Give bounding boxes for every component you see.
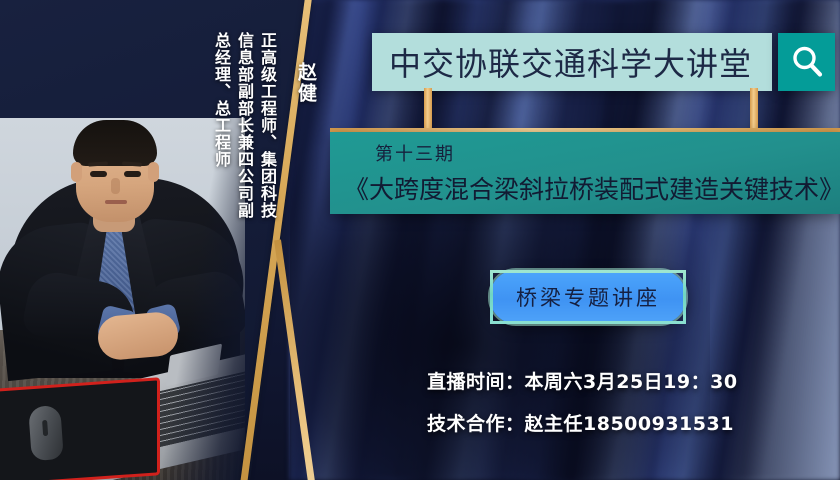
- broadcast-time: 直播时间：本周六3月25日19：30: [427, 367, 738, 394]
- program-title-bar: 中交协联交通科学大讲堂: [372, 33, 772, 91]
- session-banner: 第十三期 《大跨度混合梁斜拉桥装配式建造关键技术》: [330, 132, 840, 214]
- category-badge-label: 桥梁专题讲座: [516, 282, 660, 312]
- contact-info: 技术合作：赵主任18500931531: [427, 409, 734, 436]
- category-badge[interactable]: 桥梁专题讲座: [490, 270, 686, 324]
- gold-connector-left: [424, 88, 432, 133]
- search-button[interactable]: [778, 33, 835, 91]
- speaker-title-line-2: 信息部副部长兼四公司副: [236, 32, 252, 219]
- search-icon: [790, 45, 824, 79]
- speaker-title-line-3: 总经理、总工程师: [213, 32, 229, 168]
- speaker-title-line-1: 正高级工程师、集团科技: [259, 32, 275, 219]
- session-issue-number: 第十三期: [375, 140, 455, 166]
- session-topic-title: 《大跨度混合梁斜拉桥装配式建造关键技术》: [344, 170, 840, 206]
- speaker-name: 赵健: [296, 62, 315, 104]
- webinar-poster: 赵健 正高级工程师、集团科技 信息部副部长兼四公司副 总经理、总工程师 中交协联…: [0, 0, 840, 480]
- portrait-edge-fade: [0, 118, 245, 480]
- speaker-portrait: [0, 118, 245, 480]
- gold-connector-right: [750, 88, 758, 133]
- program-title: 中交协联交通科学大讲堂: [372, 39, 752, 85]
